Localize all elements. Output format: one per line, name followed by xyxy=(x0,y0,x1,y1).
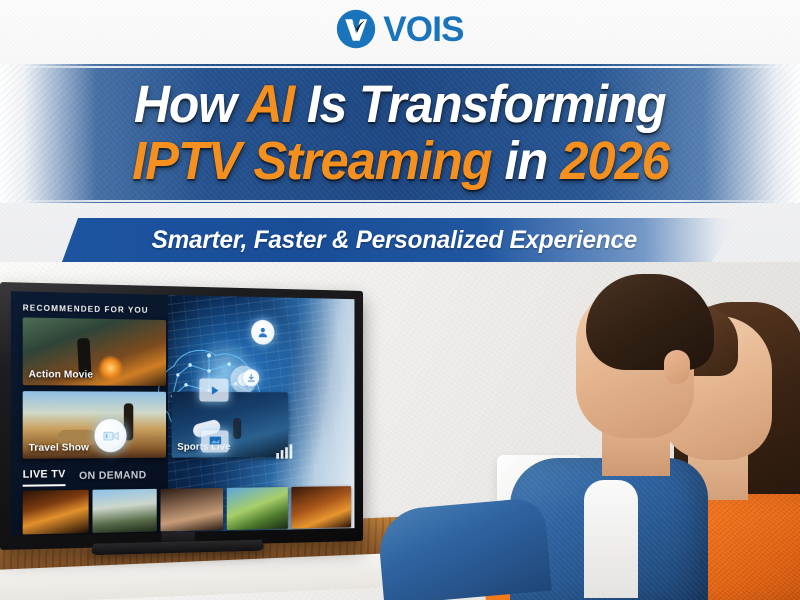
television: RECOMMENDED FOR YOU Action Movie Travel … xyxy=(0,282,363,550)
thumbnail-item[interactable] xyxy=(92,489,156,533)
tile-caption: Action Movie xyxy=(29,368,93,380)
headline-group: How AI Is Transforming IPTV Streaming in… xyxy=(0,64,800,203)
tile-caption: Travel Show xyxy=(29,442,89,454)
tab-live-tv[interactable]: LIVE TV xyxy=(23,468,66,486)
content-tabs: LIVE TV ON DEMAND xyxy=(23,468,147,487)
living-room-scene: RECOMMENDED FOR YOU Action Movie Travel … xyxy=(0,262,800,600)
tile-travel-show[interactable]: Travel Show xyxy=(23,391,166,459)
tv-screen: RECOMMENDED FOR YOU Action Movie Travel … xyxy=(11,291,355,536)
headline-word-transforming: Is Transforming xyxy=(294,75,665,134)
headline-word-iptv-streaming: IPTV Streaming xyxy=(132,131,491,191)
tile-figure-secondary xyxy=(233,418,241,439)
thumbnail-item[interactable] xyxy=(227,487,288,530)
video-camera-icon xyxy=(94,419,126,452)
tab-on-demand[interactable]: ON DEMAND xyxy=(79,470,146,486)
user-glyph xyxy=(257,326,270,340)
brand-logo: VOIS xyxy=(0,6,800,52)
thumbnail-item[interactable] xyxy=(23,490,89,535)
man-white-tshirt xyxy=(584,480,638,598)
headline-word-2026: 2026 xyxy=(560,131,668,191)
headline-word-ai: AI xyxy=(247,75,295,134)
man-hair xyxy=(586,274,714,370)
tile-action-movie[interactable]: Action Movie xyxy=(23,317,166,386)
vois-checkmark-logo-icon xyxy=(336,9,376,49)
iptv-interface: RECOMMENDED FOR YOU Action Movie Travel … xyxy=(11,291,355,536)
infographic-canvas: VOIS How AI Is Transforming IPTV Streami… xyxy=(0,0,800,600)
thumbnail-strip xyxy=(23,486,351,534)
monitor-glyph xyxy=(208,434,222,448)
bar-chart-icon xyxy=(274,440,299,461)
headline-line-2: IPTV Streaming in 2026 xyxy=(132,135,669,188)
play-button-icon xyxy=(199,378,228,401)
thumbnail-item[interactable] xyxy=(291,486,351,528)
man-ear xyxy=(664,350,690,384)
viewers-group xyxy=(388,262,800,600)
headline-word-in: in xyxy=(491,131,560,191)
thumbnail-item[interactable] xyxy=(160,488,223,532)
user-profile-icon xyxy=(251,320,274,345)
bar-chart-glyph xyxy=(275,442,296,459)
brand-name: VOIS xyxy=(383,12,463,47)
title-banner: How AI Is Transforming IPTV Streaming in… xyxy=(0,64,800,203)
play-glyph xyxy=(208,384,220,397)
man-arm xyxy=(376,497,552,600)
monitor-screen-icon xyxy=(201,430,228,452)
tile-sports-live[interactable]: Sports Live xyxy=(172,392,288,458)
headline-line-1: How AI Is Transforming xyxy=(134,79,666,131)
video-camera-glyph xyxy=(102,426,120,445)
subtitle-banner: Smarter, Faster & Personalized Experienc… xyxy=(62,218,738,262)
download-glyph xyxy=(247,373,256,383)
download-icon xyxy=(243,369,259,386)
subtitle-text: Smarter, Faster & Personalized Experienc… xyxy=(151,226,636,255)
headline-word-how: How xyxy=(134,75,247,134)
